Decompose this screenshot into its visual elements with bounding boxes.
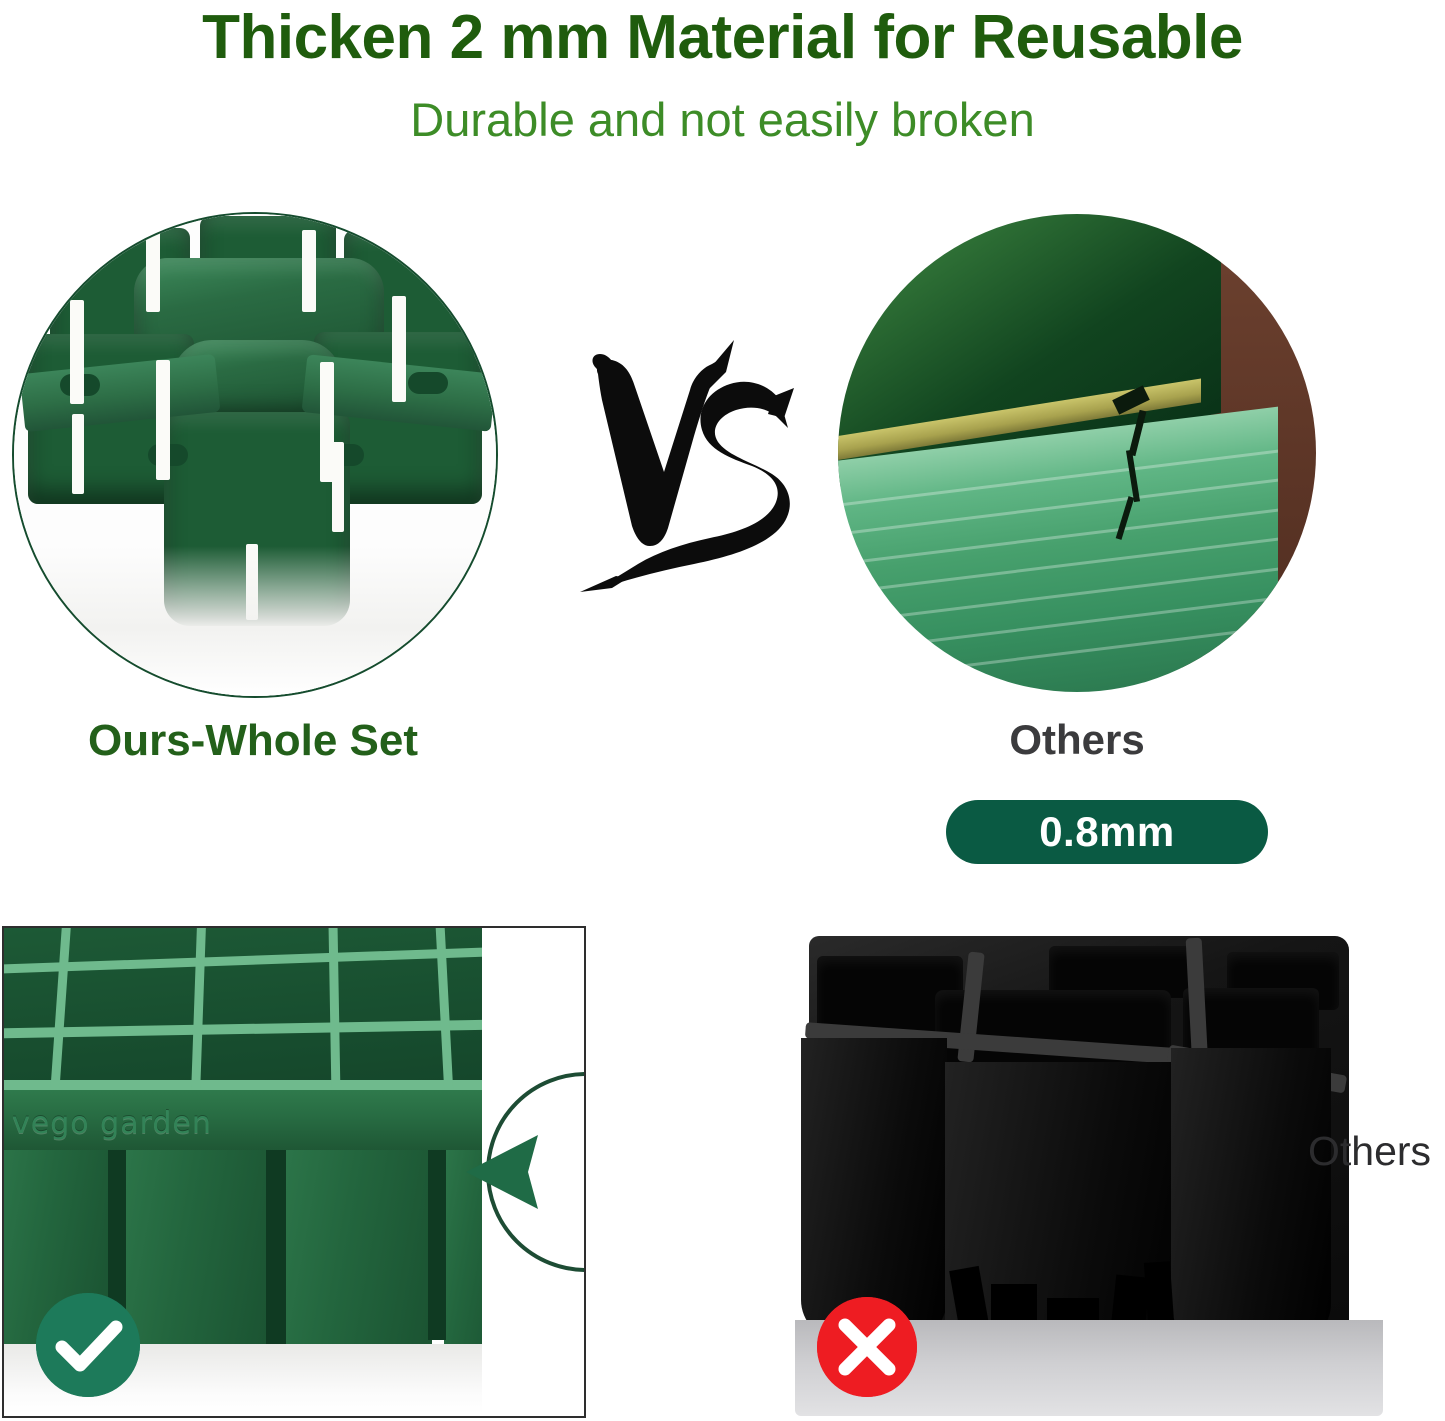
status-badge-approved: [36, 1293, 140, 1397]
page-subheadline: Durable and not easily broken: [0, 92, 1445, 148]
cracked-pot-image: [838, 214, 1316, 692]
thickness-badge-text: 0.8mm: [1039, 810, 1175, 854]
callout-notch-ours: [396, 929, 586, 1415]
others-product-photo-circle: [838, 214, 1316, 692]
versus-mark: [572, 338, 802, 594]
page-headline: Thicken 2 mm Material for Reusable: [0, 2, 1445, 74]
brand-emboss-logo: vego garden: [12, 1106, 212, 1141]
green-seed-tray-image: [14, 214, 496, 696]
thickness-badge: 0.8mm: [946, 800, 1268, 864]
others-bottom-label: Others: [1308, 1128, 1431, 1174]
callout-notch-others: [1233, 932, 1383, 1416]
others-label: Others: [838, 716, 1316, 764]
ours-product-photo-circle: [12, 212, 498, 698]
ours-label: Ours-Whole Set: [12, 716, 494, 766]
status-badge-rejected: [817, 1297, 917, 1397]
